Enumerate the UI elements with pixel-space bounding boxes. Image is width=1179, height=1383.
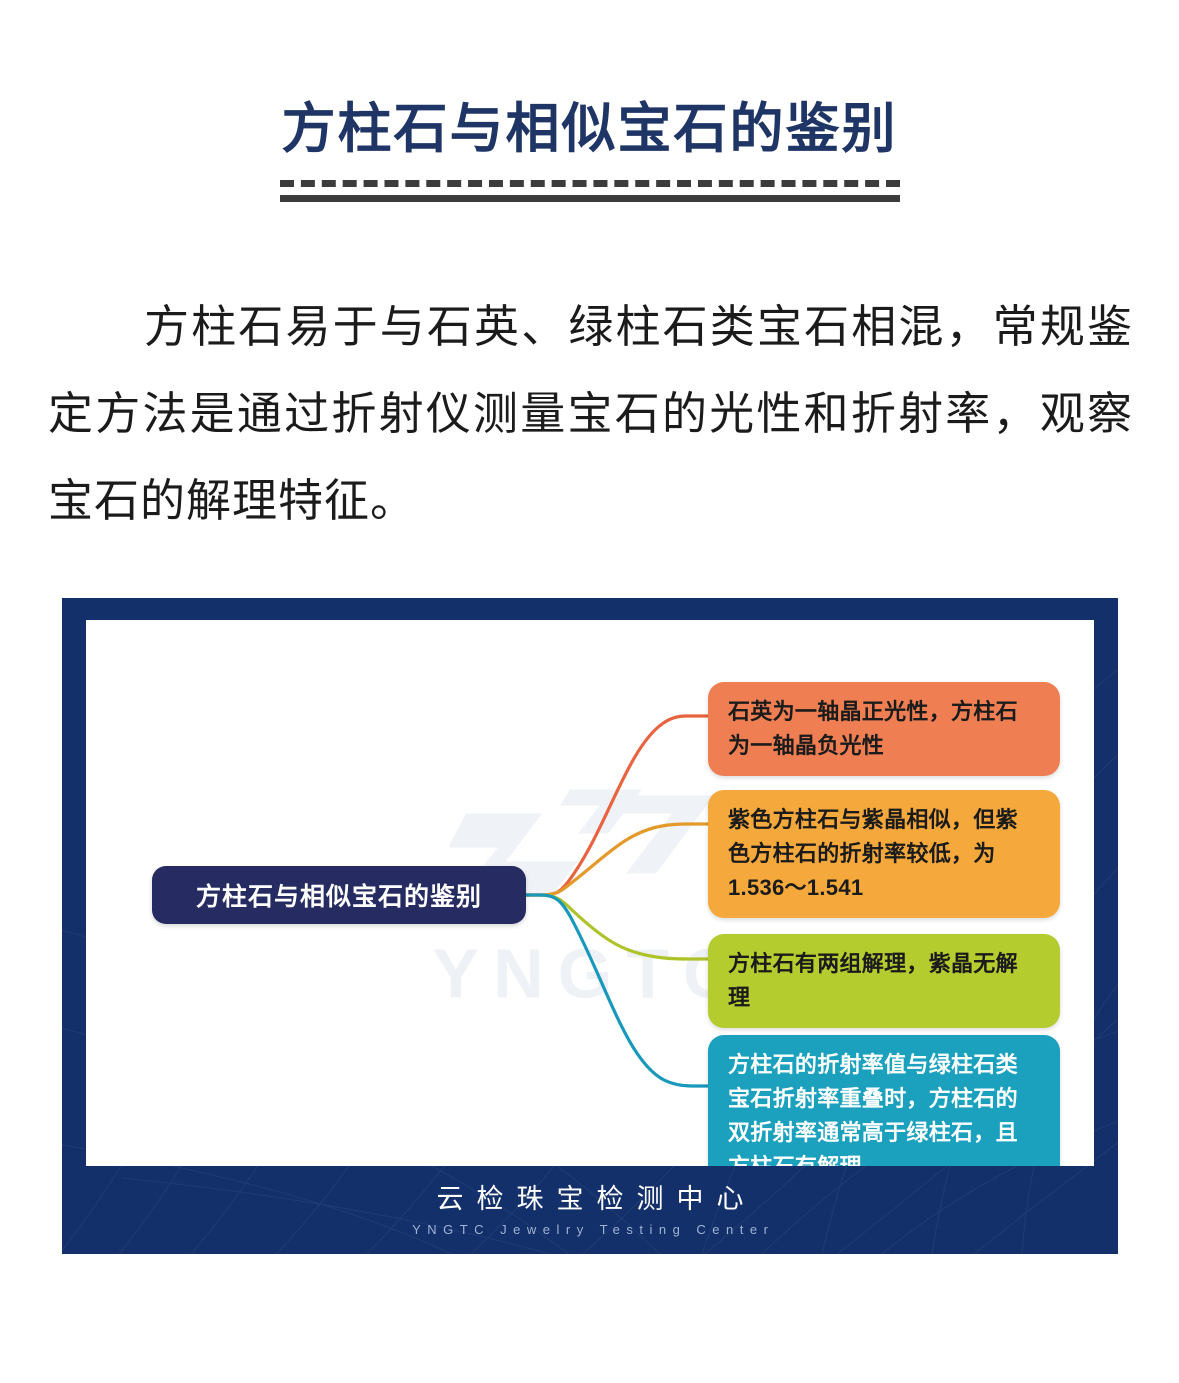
intro-paragraph: 方柱石易于与石英、绿柱石类宝石相混，常规鉴定方法是通过折射仪测量宝石的光性和折射… <box>48 283 1133 544</box>
title-dashed-rule <box>280 180 900 187</box>
mindmap-root-node[interactable]: 方柱石与相似宝石的鉴别 <box>152 866 526 924</box>
mindmap-canvas: YNGTC 方柱石与相似宝石的鉴别 石英为一轴晶正光性，方柱石为一轴晶负光性 紫… <box>86 620 1094 1166</box>
mindmap-branch-node-2[interactable]: 紫色方柱石与紫晶相似，但紫色方柱石的折射率较低，为 1.536～1.541 <box>708 790 1060 918</box>
mindmap-branch-node-4[interactable]: 方柱石的折射率值与绿柱石类宝石折射率重叠时，方柱石的双折射率通常高于绿柱石，且方… <box>708 1035 1060 1166</box>
footer-title-en: YNGTC Jewelry Testing Center <box>406 1222 775 1238</box>
title-rules <box>280 180 900 202</box>
title-block: 方柱石与相似宝石的鉴别 <box>0 100 1179 159</box>
card-footer: 云检珠宝检测中心 YNGTC Jewelry Testing Center <box>62 1166 1118 1254</box>
page-title: 方柱石与相似宝石的鉴别 <box>0 100 1179 159</box>
mindmap-branch-label-2: 紫色方柱石与紫晶相似，但紫色方柱石的折射率较低，为 1.536～1.541 <box>728 803 1038 905</box>
mindmap-branch-label-3: 方柱石有两组解理，紫晶无解理 <box>728 947 1038 1015</box>
mindmap-branch-label-1: 石英为一轴晶正光性，方柱石为一轴晶负光性 <box>728 695 1038 763</box>
footer-title-cn: 云检珠宝检测中心 <box>424 1183 757 1215</box>
title-solid-rule <box>280 195 900 202</box>
mindmap-branch-node-1[interactable]: 石英为一轴晶正光性，方柱石为一轴晶负光性 <box>708 682 1060 776</box>
mindmap-card: YNGTC 方柱石与相似宝石的鉴别 石英为一轴晶正光性，方柱石为一轴晶负光性 紫… <box>62 598 1118 1254</box>
mindmap-branch-node-3[interactable]: 方柱石有两组解理，紫晶无解理 <box>708 934 1060 1028</box>
mindmap-root-label: 方柱石与相似宝石的鉴别 <box>196 877 482 913</box>
link-root-to-branch-1 <box>526 716 708 895</box>
link-root-to-branch-4 <box>526 895 708 1086</box>
link-root-to-branch-2 <box>526 824 708 895</box>
link-root-to-branch-3 <box>526 895 708 959</box>
mindmap-branch-label-4: 方柱石的折射率值与绿柱石类宝石折射率重叠时，方柱石的双折射率通常高于绿柱石，且方… <box>728 1048 1038 1166</box>
